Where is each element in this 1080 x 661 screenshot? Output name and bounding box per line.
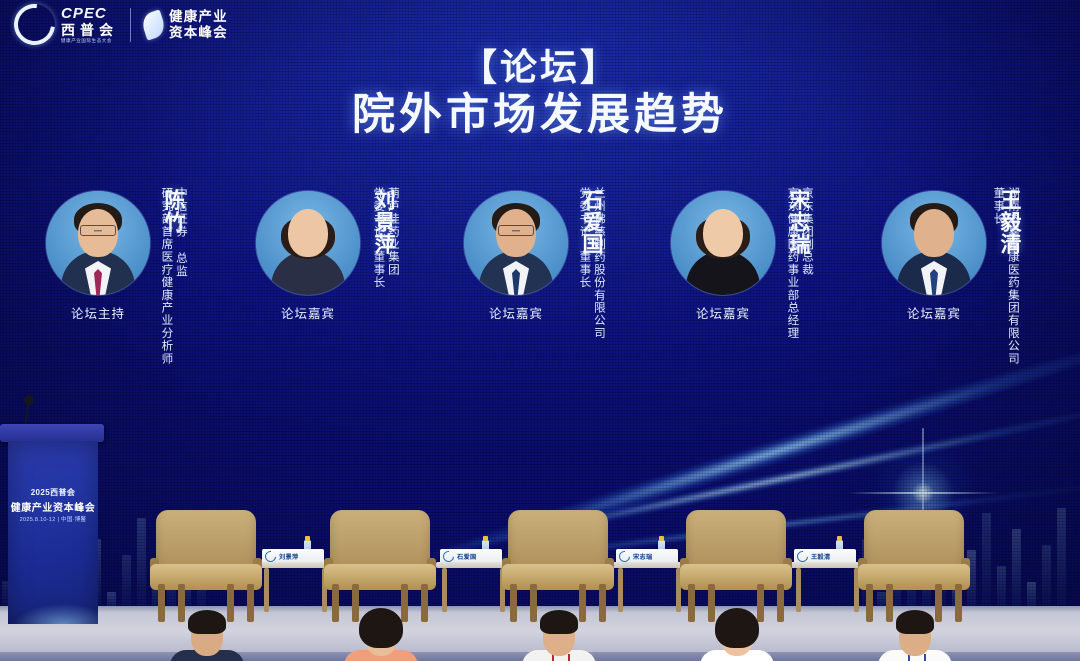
panelist-hair bbox=[896, 610, 934, 634]
chair-seat bbox=[858, 564, 970, 590]
chair-leg bbox=[935, 584, 942, 622]
summit-logo-line1: 健康产业 bbox=[169, 9, 228, 24]
panelist-hair bbox=[540, 610, 578, 634]
podium-line-3: 2025.8.10-12 | 中国·博鳌 bbox=[8, 515, 98, 523]
panelist-org-line: 党委书记、董事长 bbox=[372, 187, 385, 289]
panelist-org-line: 党委书记、董事长 bbox=[578, 187, 591, 339]
podium-lectern: 2025西普会 健康产业资本峰会 2025.8.10-12 | 中国·博鳌 bbox=[0, 424, 104, 624]
summit-logo-line2: 资本峰会 bbox=[169, 25, 228, 40]
panelist-portrait bbox=[464, 191, 568, 295]
panelist-org-line: 湖南达嘉维康医药集团有限公司 bbox=[1006, 187, 1019, 365]
podium-top bbox=[0, 424, 104, 442]
conference-stage-photo: CPEC 西普会 健康产业国际生态大会 健康产业 资本峰会 【论坛】 院外市场发… bbox=[0, 0, 1080, 661]
panelist-org-title: 葫芦娃药业集团党委书记、董事长 bbox=[372, 187, 400, 289]
chair-leg bbox=[332, 584, 339, 622]
podium-line-1: 2025西普会 bbox=[8, 487, 98, 498]
armchair bbox=[678, 510, 794, 622]
panelist-org-title: 兰州佛慈制药股份有限公司党委书记、董事长 bbox=[578, 187, 606, 339]
panelist-org-line: 葫芦娃药业集团 bbox=[386, 187, 399, 289]
logo-summit: 健康产业 资本峰会 bbox=[143, 9, 228, 39]
side-table: 宋志瑞 bbox=[612, 562, 688, 612]
armchair bbox=[322, 510, 438, 622]
chair-leg bbox=[227, 584, 234, 622]
leaf-logo-icon bbox=[139, 9, 167, 40]
panelist-org-title: 湖南达嘉维康医药集团有限公司董事长 bbox=[992, 187, 1020, 365]
chair-leg bbox=[421, 584, 428, 622]
armchair bbox=[148, 510, 264, 622]
logo-latin-text: CPEC bbox=[61, 6, 118, 21]
chair-leg bbox=[510, 584, 517, 622]
panelist-hair bbox=[715, 608, 759, 648]
nameplate-name: 宋志瑞 bbox=[633, 552, 652, 561]
panelist-hair bbox=[359, 608, 403, 648]
panelist-org-title: 中信证券 总监研究部首席医疗健康产业分析师 bbox=[160, 187, 188, 365]
podium-banner: 2025西普会 健康产业资本峰会 2025.8.10-12 | 中国·博鳌 bbox=[8, 441, 98, 624]
table-leg bbox=[618, 568, 623, 612]
panelist-portrait bbox=[46, 191, 150, 295]
panelist-card: 论坛嘉宾王毅清湖南达嘉维康医药集团有限公司董事长 bbox=[866, 183, 1076, 423]
panelist-org-line: 京东健康医药事业部总经理 bbox=[786, 187, 799, 339]
logo-cpec: CPEC 西普会 健康产业国际生态大会 bbox=[14, 4, 118, 45]
chair-leg bbox=[688, 584, 695, 622]
podium-line-2: 健康产业资本峰会 bbox=[8, 499, 98, 514]
panelist-portrait bbox=[256, 191, 360, 295]
chair-leg bbox=[158, 584, 165, 622]
side-table: 王毅清 bbox=[790, 562, 866, 612]
panelist-role-label: 论坛嘉宾 bbox=[882, 303, 986, 322]
panelist-org-line: 兰州佛慈制药股份有限公司 bbox=[592, 187, 605, 339]
panelist-role-label: 论坛主持 bbox=[46, 303, 150, 322]
chair-leg bbox=[352, 584, 359, 622]
chair-seat bbox=[502, 564, 614, 590]
chair-leg bbox=[886, 584, 893, 622]
chair-leg bbox=[955, 584, 962, 622]
chair-leg bbox=[178, 584, 185, 622]
panelist-hair bbox=[188, 610, 226, 634]
forum-title: 【论坛】 院外市场发展趋势 bbox=[0, 46, 1080, 141]
chair-seat bbox=[150, 564, 262, 590]
nameplate-name: 王毅清 bbox=[811, 552, 830, 561]
panelist-org-line: 研究部首席医疗健康产业分析师 bbox=[160, 187, 173, 365]
nameplate-name: 石爱国 bbox=[457, 552, 476, 561]
armchair bbox=[856, 510, 972, 622]
panelist-card: 论坛嘉宾石爱国兰州佛慈制药股份有限公司党委书记、董事长 bbox=[448, 183, 658, 423]
logo-divider bbox=[130, 8, 131, 42]
logo-chinese-text: 西普会 bbox=[61, 23, 118, 37]
panelist-org-line: 董事长 bbox=[992, 187, 1005, 365]
table-leg bbox=[796, 568, 801, 612]
panelist-portrait bbox=[671, 191, 775, 295]
nameplate-name: 刘景萍 bbox=[279, 552, 298, 561]
panelist-card: 论坛嘉宾刘景萍葫芦娃药业集团党委书记、董事长 bbox=[240, 183, 450, 423]
chair-seat bbox=[324, 564, 436, 590]
panelist-org-title: 京东集团副总裁京东健康医药事业部总经理 bbox=[786, 187, 814, 339]
panelist-org-line: 中信证券 总监 bbox=[174, 187, 187, 365]
panelist-role-label: 论坛嘉宾 bbox=[256, 303, 360, 322]
title-line-2: 院外市场发展趋势 bbox=[0, 90, 1080, 142]
chair-leg bbox=[599, 584, 606, 622]
chair-leg bbox=[579, 584, 586, 622]
chair-leg bbox=[247, 584, 254, 622]
panelist-card: 论坛嘉宾宋志瑞京东集团副总裁京东健康医药事业部总经理 bbox=[655, 183, 865, 423]
table-leg bbox=[264, 568, 269, 612]
panelist-card: 论坛主持陈竹中信证券 总监研究部首席医疗健康产业分析师 bbox=[30, 183, 240, 423]
title-line-1: 【论坛】 bbox=[0, 46, 1080, 90]
panelist-portrait bbox=[882, 191, 986, 295]
header-logos: CPEC 西普会 健康产业国际生态大会 健康产业 资本峰会 bbox=[14, 4, 228, 45]
chair-leg bbox=[866, 584, 873, 622]
chair-leg bbox=[757, 584, 764, 622]
panelist-role-label: 论坛嘉宾 bbox=[464, 303, 568, 322]
armchair bbox=[500, 510, 616, 622]
chair-leg bbox=[777, 584, 784, 622]
panelist-org-line: 京东集团副总裁 bbox=[800, 187, 813, 339]
panelist-role-label: 论坛嘉宾 bbox=[671, 303, 775, 322]
chair-leg bbox=[708, 584, 715, 622]
panelist-card-list: 论坛主持陈竹中信证券 总监研究部首席医疗健康产业分析师论坛嘉宾刘景萍葫芦娃药业集… bbox=[0, 183, 1080, 423]
logo-subtitle-text: 健康产业国际生态大会 bbox=[61, 39, 118, 44]
chair-seat bbox=[680, 564, 792, 590]
chair-leg bbox=[401, 584, 408, 622]
chair-leg bbox=[530, 584, 537, 622]
table-leg bbox=[442, 568, 447, 612]
seated-panel-group: 刘景萍石爱国宋志瑞王毅清 bbox=[0, 400, 1080, 630]
